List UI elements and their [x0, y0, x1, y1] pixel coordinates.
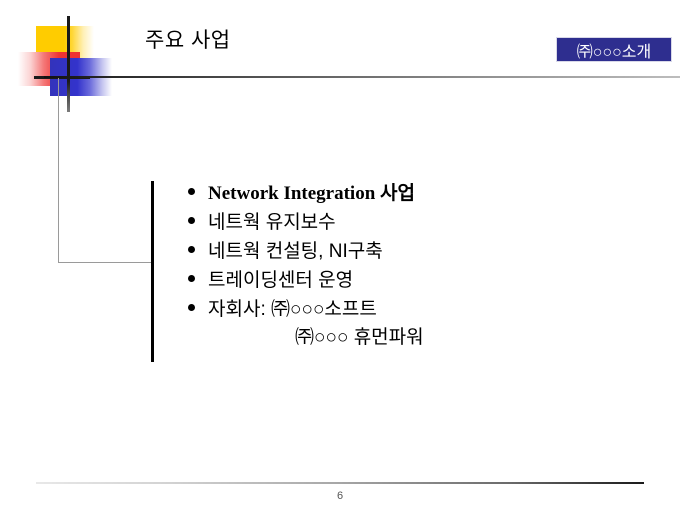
list-item-label: 네트웍 컨설팅, NI구축	[208, 236, 383, 263]
bullet-dot-icon	[188, 217, 195, 224]
list-item-label: 네트웍 유지보수	[208, 207, 336, 234]
bullet-list: Network Integration 사업 네트웍 유지보수 네트웍 컨설팅,…	[188, 178, 628, 353]
corner-motif-graphic	[0, 0, 140, 120]
bullet-dot-icon	[188, 246, 195, 253]
section-badge: ㈜○○○소개	[556, 37, 672, 62]
motif-vertical-tick	[67, 16, 70, 112]
footer-divider	[36, 482, 644, 484]
connector-vertical-line	[58, 78, 59, 263]
section-badge-label: ㈜○○○소개	[577, 38, 651, 62]
list-item: 트레이딩센터 운영	[188, 265, 628, 294]
page-number: 6	[0, 490, 680, 502]
header-divider	[44, 76, 680, 78]
list-item-label: 트레이딩센터 운영	[208, 265, 353, 292]
bullet-dot-icon	[188, 275, 195, 282]
list-item: 네트웍 유지보수	[188, 207, 628, 236]
list-item: 자회사: ㈜○○○소프트	[188, 294, 628, 323]
slide-canvas: 주요 사업 ㈜○○○소개 Network Integration 사업 네트웍 …	[0, 0, 680, 510]
list-item-label: 자회사: ㈜○○○소프트	[208, 294, 377, 321]
list-item: Network Integration 사업	[188, 178, 628, 207]
list-item-continuation: ㈜○○○ 휴먼파워	[295, 323, 628, 353]
bullet-dot-icon	[188, 304, 195, 311]
connector-horizontal-line	[58, 262, 153, 263]
list-item-label: Network Integration 사업	[208, 178, 415, 205]
page-title: 주요 사업	[145, 24, 231, 54]
bullet-dot-icon	[188, 188, 195, 195]
list-item: 네트웍 컨설팅, NI구축	[188, 236, 628, 265]
content-accent-bar	[151, 181, 154, 362]
